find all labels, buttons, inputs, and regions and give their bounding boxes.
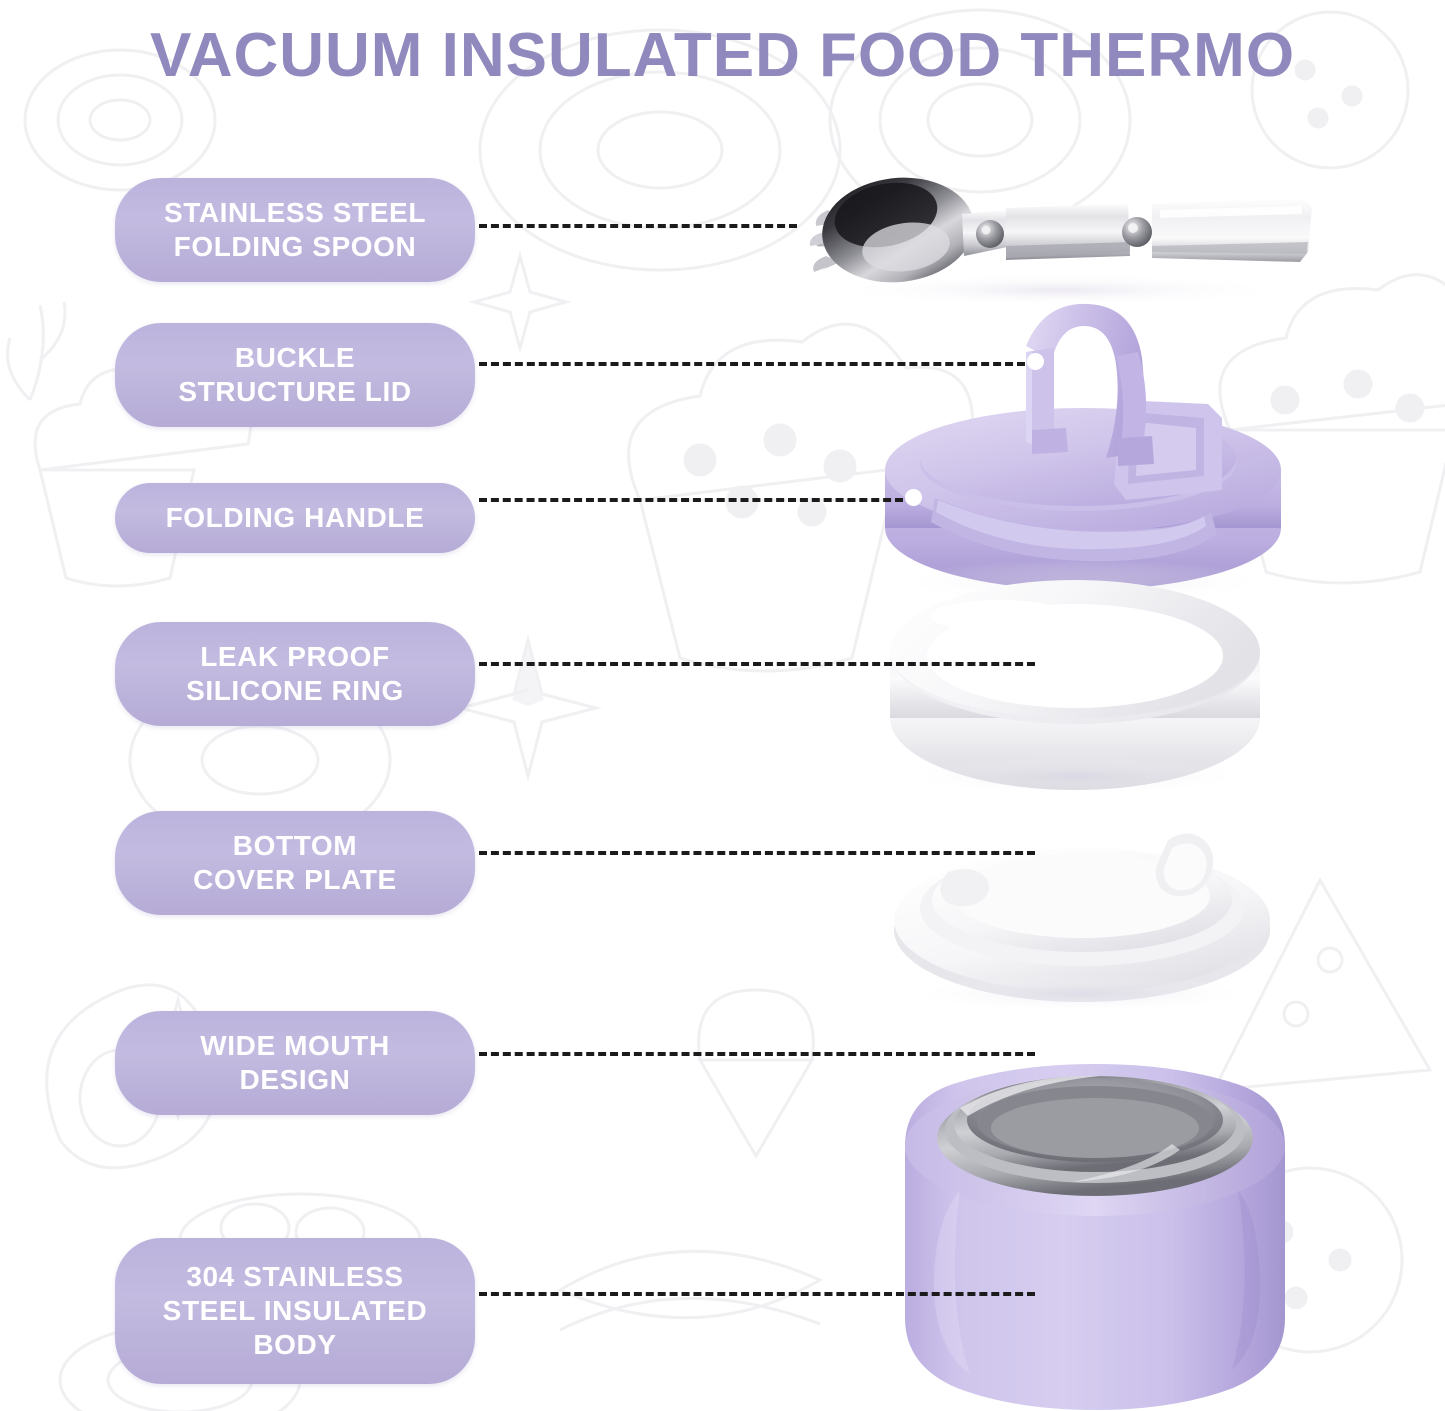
- label-pill-stainless-steel-folding-spoon: STAINLESS STEELFOLDING SPOON: [115, 178, 475, 282]
- page-title: VACUUM INSULATED FOOD THERMO: [0, 20, 1445, 91]
- label-pill-folding-handle: FOLDING HANDLE: [115, 483, 475, 553]
- label-line: FOLDING HANDLE: [166, 501, 425, 535]
- label-line: BUCKLE: [178, 341, 411, 375]
- cover-plate-art: [894, 833, 1270, 1012]
- lid-art: [885, 304, 1281, 604]
- label-pill-wide-mouth-design: WIDE MOUTHDESIGN: [115, 1011, 475, 1115]
- label-line: FOLDING SPOON: [164, 230, 426, 264]
- label-line: LEAK PROOF: [186, 640, 404, 674]
- label-line: STRUCTURE LID: [178, 375, 411, 409]
- leader-endpoint-dot-buckle-structure-lid: [1027, 353, 1044, 370]
- label-line: SILICONE RING: [186, 674, 404, 708]
- label-pill-bottom-cover-plate: BOTTOMCOVER PLATE: [115, 811, 475, 915]
- leader-line-wide-mouth-design: [479, 1052, 1035, 1056]
- label-line: BODY: [163, 1328, 428, 1362]
- leader-line-leak-proof-silicone-ring: [479, 662, 1035, 666]
- leader-line-stainless-steel-folding-spoon: [479, 224, 797, 228]
- leader-line-bottom-cover-plate: [479, 851, 1035, 855]
- label-line: STAINLESS STEEL: [164, 196, 426, 230]
- leader-line-304-stainless-steel-insulated-body: [479, 1292, 1035, 1296]
- label-line: DESIGN: [200, 1063, 390, 1097]
- leader-line-buckle-structure-lid: [479, 362, 1025, 366]
- leader-endpoint-dot-folding-handle: [905, 489, 922, 506]
- label-line: COVER PLATE: [193, 863, 397, 897]
- label-pill-leak-proof-silicone-ring: LEAK PROOFSILICONE RING: [115, 622, 475, 726]
- label-line: WIDE MOUTH: [200, 1029, 390, 1063]
- label-line: 304 STAINLESS: [163, 1260, 428, 1294]
- insulated-body-art: [905, 1064, 1285, 1410]
- leader-line-folding-handle: [479, 498, 903, 502]
- folding-spoon-art: [810, 170, 1312, 306]
- label-pill-buckle-structure-lid: BUCKLESTRUCTURE LID: [115, 323, 475, 427]
- silicone-ring-art: [890, 580, 1260, 794]
- label-line: BOTTOM: [193, 829, 397, 863]
- label-line: STEEL INSULATED: [163, 1294, 428, 1328]
- label-pill-304-stainless-steel-insulated-body: 304 STAINLESSSTEEL INSULATEDBODY: [115, 1238, 475, 1384]
